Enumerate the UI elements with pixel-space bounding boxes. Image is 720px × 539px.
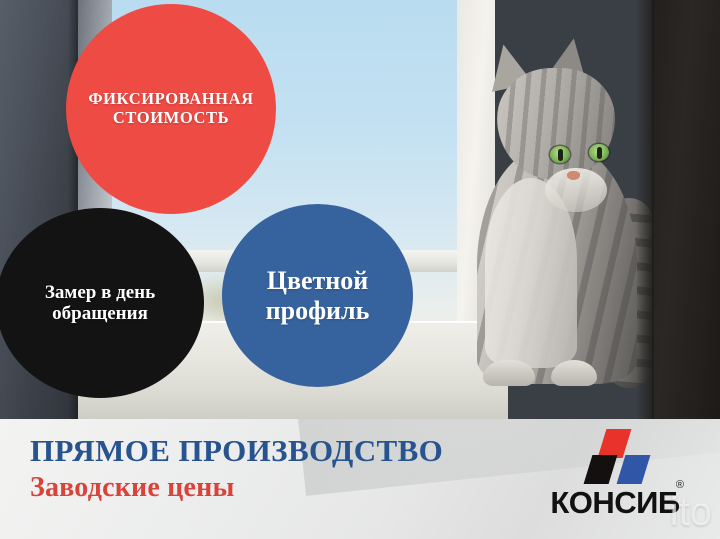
logo-mark-icon: [576, 429, 652, 485]
cat-eye-right: [589, 144, 609, 161]
company-logo: ® КОНСИБ: [540, 429, 690, 533]
banner-text-block: ПРЯМОЕ ПРОИЗВОДСТВО Заводские цены: [30, 435, 443, 502]
cat-paw-right: [551, 360, 597, 386]
cat-pupil-left: [558, 149, 563, 161]
banner-subheadline: Заводские цены: [30, 474, 443, 502]
advertisement-image: ФИКСИРОВАННАЯ СТОИМОСТЬ Замер в день обр…: [0, 0, 720, 539]
right-curtain: [652, 0, 720, 419]
logo-wordmark: КОНСИБ: [540, 487, 690, 518]
bottom-banner: ПРЯМОЕ ПРОИЗВОДСТВО Заводские цены ® КОН…: [0, 419, 720, 539]
feature-bubble-same-day-measurement: Замер в день обращения: [0, 208, 204, 398]
feature-bubble-fixed-price: ФИКСИРОВАННАЯ СТОИМОСТЬ: [66, 4, 276, 214]
cat-pupil-right: [597, 147, 602, 159]
logo-parallelogram-black-icon: [584, 455, 618, 484]
feature-bubble-same-day-measurement-label: Замер в день обращения: [45, 282, 155, 325]
cat-paw-left: [483, 360, 535, 386]
cat-nose: [567, 171, 580, 180]
banner-headline: ПРЯМОЕ ПРОИЗВОДСТВО: [30, 435, 443, 466]
logo-parallelogram-red-icon: [598, 429, 632, 458]
feature-bubble-color-profile-label: Цветной профиль: [266, 266, 370, 325]
feature-bubble-fixed-price-label: ФИКСИРОВАННАЯ СТОИМОСТЬ: [88, 90, 253, 127]
feature-bubble-color-profile: Цветной профиль: [222, 204, 413, 387]
cat-eye-left: [550, 146, 570, 163]
logo-parallelogram-blue-icon: [617, 455, 651, 484]
